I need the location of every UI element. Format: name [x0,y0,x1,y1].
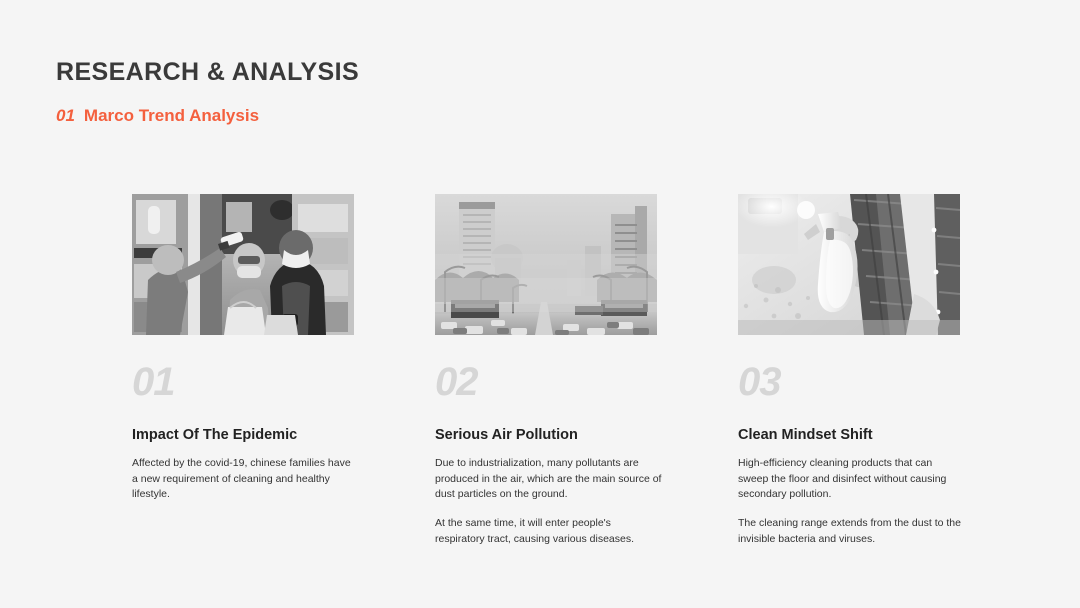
column-heading: Impact Of The Epidemic [132,427,359,444]
column-02: 02 Serious Air Pollution Due to industri… [435,194,662,547]
slide-header: RESEARCH & ANALYSIS 01 Marco Trend Analy… [56,60,359,124]
column-01: 01 Impact Of The Epidemic Affected by th… [132,194,359,547]
photo-hand-spray-bottle-cleaning [738,194,960,335]
content-columns: 01 Impact Of The Epidemic Affected by th… [132,194,966,547]
column-number: 01 [132,362,359,402]
column-paragraph-secondary: At the same time, it will enter people's… [435,516,662,547]
section-label: Marco Trend Analysis [84,107,259,124]
column-number: 02 [435,362,662,402]
page-title: RESEARCH & ANALYSIS [56,60,359,85]
column-paragraph: High-efficiency cleaning products that c… [738,456,965,502]
slide-research-analysis: RESEARCH & ANALYSIS 01 Marco Trend Analy… [0,0,1080,608]
photo-temperature-screening-storefront [132,194,354,335]
column-paragraph: Affected by the covid-19, chinese famili… [132,456,359,502]
column-heading: Serious Air Pollution [435,427,662,444]
section-subtitle: 01 Marco Trend Analysis [56,107,359,124]
photo-smoggy-city-highway [435,194,657,335]
column-paragraph: Due to industrialization, many pollutant… [435,456,662,502]
column-heading: Clean Mindset Shift [738,427,965,444]
section-number: 01 [56,107,75,124]
column-number: 03 [738,362,965,402]
column-paragraph-secondary: The cleaning range extends from the dust… [738,516,965,547]
column-03: 03 Clean Mindset Shift High-efficiency c… [738,194,965,547]
